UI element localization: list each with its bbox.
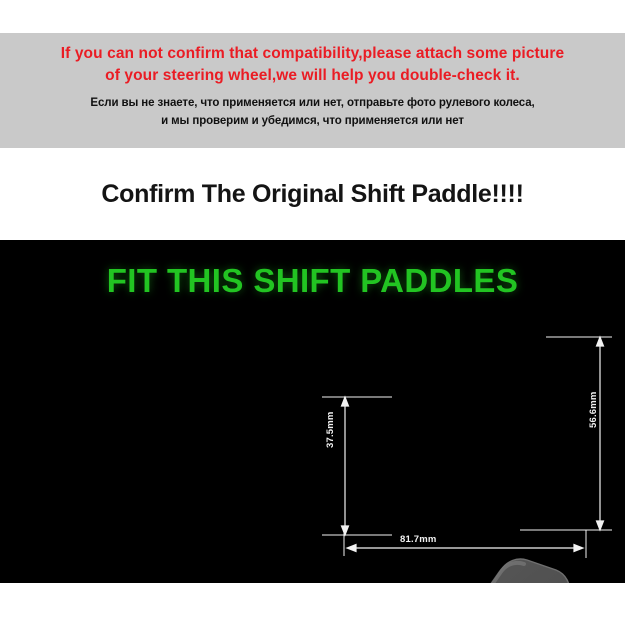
right-paddle-body — [348, 559, 570, 583]
arrowhead-37-bottom — [342, 526, 349, 535]
notice-english-text: If you can not confirm that compatibilit… — [13, 43, 613, 87]
bottom-white-margin — [0, 583, 625, 625]
fit-headline: FIT THIS SHIFT PADDLES — [0, 262, 625, 300]
right-paddle-image — [325, 558, 615, 583]
dimension-label-width: 81.7mm — [400, 534, 437, 545]
dimension-label-rear-height: 56.6mm — [588, 391, 599, 428]
arrowhead-37-top — [342, 397, 349, 406]
page-title: Confirm The Original Shift Paddle!!!! — [101, 180, 523, 209]
arrowhead-81-right — [574, 545, 583, 552]
notice-english-line-2: of your steering wheel,we will help you … — [13, 65, 613, 87]
notice-russian-line-1: Если вы не знаете, что применяется или н… — [13, 94, 613, 112]
paddle-photo-panel: FIT THIS SHIFT PADDLES — [0, 240, 625, 583]
arrowhead-56-top — [597, 337, 604, 346]
notice-english-line-1: If you can not confirm that compatibilit… — [13, 43, 613, 65]
notice-russian-text: Если вы не знаете, что применяется или н… — [13, 94, 613, 130]
product-compatibility-graphic: If you can not confirm that compatibilit… — [0, 0, 625, 625]
arrowhead-81-left — [347, 545, 356, 552]
notice-russian-line-2: и мы проверим и убедимся, что применяетс… — [13, 112, 613, 130]
compatibility-notice-band: If you can not confirm that compatibilit… — [0, 33, 625, 148]
top-white-margin — [0, 0, 625, 33]
heading-strip: Confirm The Original Shift Paddle!!!! — [0, 148, 625, 240]
dimension-label-front-height: 37.5mm — [325, 411, 336, 448]
arrowhead-56-bottom — [597, 521, 604, 530]
